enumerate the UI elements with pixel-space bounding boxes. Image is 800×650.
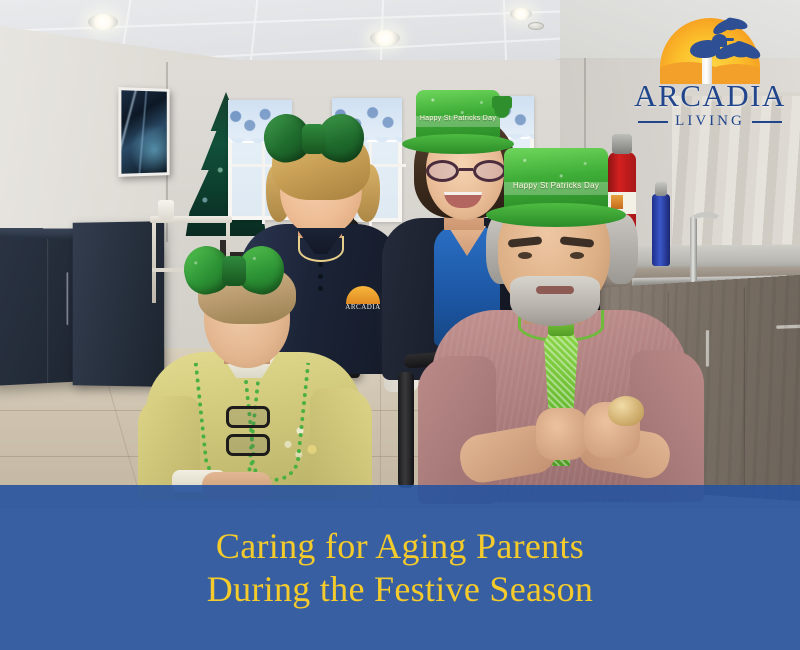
hat-text: Happy St Patricks Day — [416, 115, 500, 122]
person-resident-man: Happy St Patricks Day — [432, 140, 692, 500]
logo-tagline: LIVING — [675, 114, 745, 129]
logo-tagline-row: LIVING — [638, 114, 782, 129]
shamrock-icon — [492, 96, 512, 118]
green-bow-headband — [184, 246, 284, 296]
person-resident-woman — [146, 256, 366, 496]
hat-text: Happy St Patricks Day — [504, 181, 608, 190]
green-glitter-top-hat: Happy St Patricks Day — [486, 148, 626, 232]
promo-image: ARCADIA Happy St Patricks Day — [0, 0, 800, 650]
banner-title-line-1: Caring for Aging Parents — [216, 525, 584, 567]
brand-logo[interactable]: ARCADIA LIVING — [630, 18, 790, 144]
sun-with-seagulls-icon — [660, 18, 760, 84]
wall-art-abstract — [118, 87, 169, 177]
pastry — [608, 396, 644, 426]
logo-rule-left — [638, 121, 668, 123]
smoke-detector-icon — [528, 22, 544, 30]
recessed-light — [370, 30, 400, 46]
recessed-light — [88, 14, 118, 30]
wheelchair-post — [398, 372, 414, 488]
eyeglasses-on-chest — [224, 406, 272, 464]
green-bow-headband — [264, 114, 364, 164]
recessed-light — [510, 8, 532, 20]
seagull-perched-icon — [690, 40, 720, 58]
logo-brand-name: ARCADIA — [630, 80, 790, 111]
pitcher — [158, 200, 174, 220]
banner-title-line-2: During the Festive Season — [207, 568, 593, 610]
logo-rule-right — [752, 121, 782, 123]
title-banner: Caring for Aging Parents During the Fest… — [0, 485, 800, 650]
